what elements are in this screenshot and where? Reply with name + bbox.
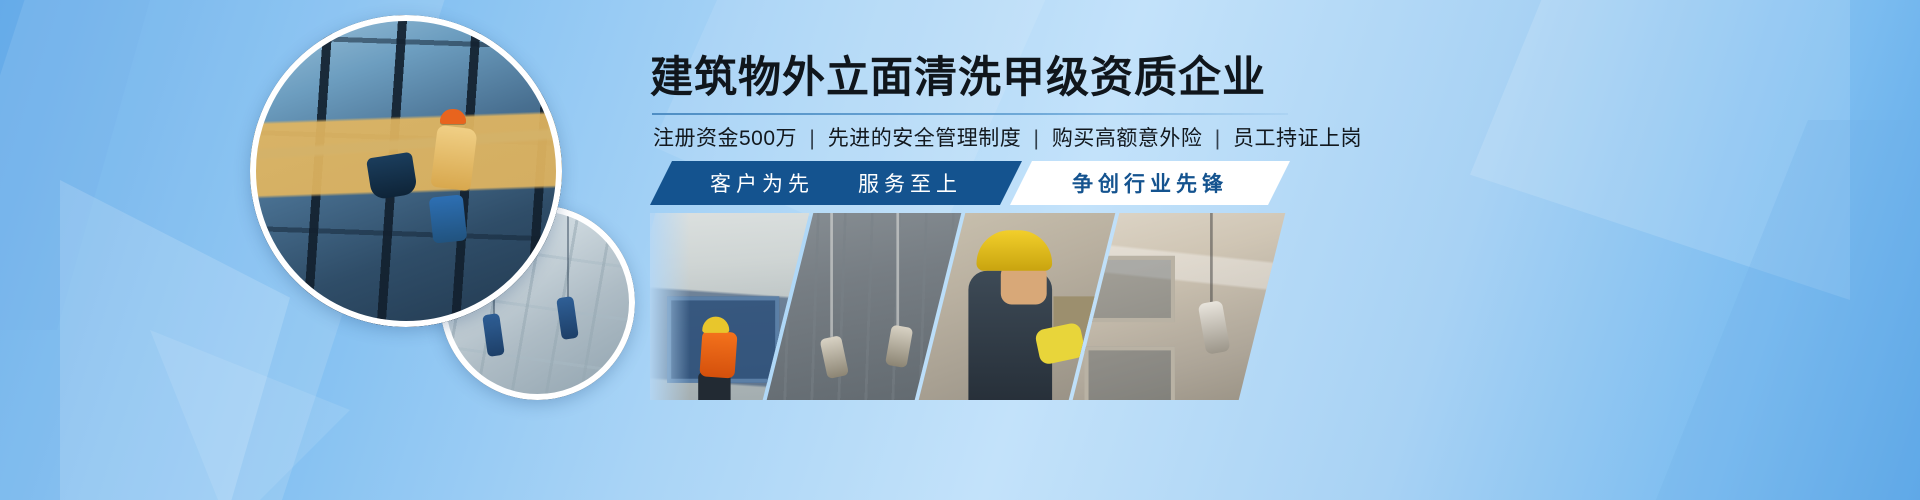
slogan-ribbon: 客户为先 服务至上 争创行业先锋 (650, 161, 1290, 205)
background-shape-diagonal-right (1470, 0, 1850, 300)
slogan-highlight: 争创行业先锋 (1072, 168, 1228, 198)
background-shape-wedge-left (0, 0, 150, 330)
circle-photo-main (250, 15, 562, 327)
slogan-primary: 客户为先 (710, 168, 814, 198)
page-title: 建筑物外立面清洗甲级资质企业 (650, 57, 1266, 100)
subtitle-separator: | (1028, 127, 1046, 150)
background-shape-triangle-bottom (150, 330, 350, 500)
subtitle-separator: | (1209, 127, 1227, 150)
subtitle-item-insurance: 购买高额意外险 (1052, 127, 1203, 150)
subtitle-separator: | (803, 127, 821, 150)
photo-glass-curtain-wall-cleaner (250, 15, 562, 327)
slogan-secondary: 服务至上 (858, 168, 962, 198)
subtitle-item-capital: 注册资金500万 (653, 127, 797, 150)
slogan-ribbon-dark: 客户为先 服务至上 (650, 161, 1022, 205)
promo-banner: 建筑物外立面清洗甲级资质企业 注册资金500万 | 先进的安全管理制度 | 购买… (0, 0, 1920, 500)
title-divider (652, 113, 1288, 115)
subtitle-item-safety: 先进的安全管理制度 (828, 127, 1022, 150)
slogan-ribbon-light: 争创行业先锋 (1010, 161, 1290, 205)
background-shape-wedge-right (1640, 120, 1920, 500)
subtitle: 注册资金500万 | 先进的安全管理制度 | 购买高额意外险 | 员工持证上岗 (653, 122, 1362, 152)
photo-strip (650, 213, 1290, 400)
subtitle-item-certified: 员工持证上岗 (1233, 127, 1362, 150)
